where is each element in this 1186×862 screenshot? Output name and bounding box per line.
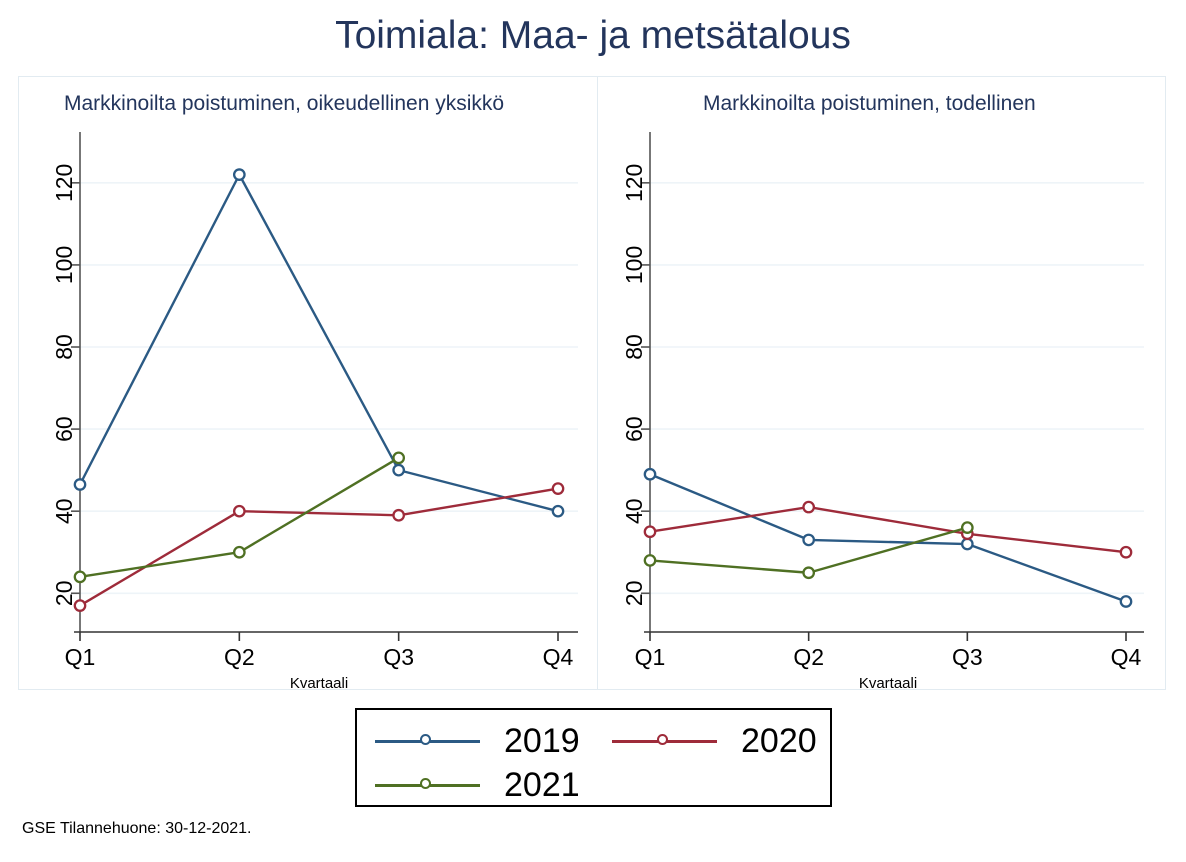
svg-text:20: 20 (51, 580, 77, 606)
circle-marker-icon (420, 734, 431, 745)
chart-canvas: Toimiala: Maa- ja metsätalous Markkinoil… (0, 0, 1186, 862)
svg-text:Q1: Q1 (65, 644, 96, 670)
svg-text:80: 80 (51, 334, 77, 360)
legend-label-2020: 2020 (741, 724, 817, 758)
svg-text:120: 120 (621, 164, 647, 202)
svg-text:80: 80 (621, 334, 647, 360)
svg-text:20: 20 (621, 580, 647, 606)
svg-text:120: 120 (51, 164, 77, 202)
svg-text:60: 60 (621, 416, 647, 442)
legend: 2019 2020 2021 (355, 708, 832, 807)
legend-item-2021: 2021 (375, 768, 580, 802)
svg-text:60: 60 (51, 416, 77, 442)
legend-key-2019 (375, 730, 480, 752)
circle-marker-icon (657, 734, 668, 745)
svg-text:100: 100 (51, 246, 77, 284)
svg-text:Q4: Q4 (1111, 644, 1142, 670)
legend-item-2019: 2019 (375, 724, 580, 758)
legend-item-2020: 2020 (612, 724, 817, 758)
line-chart-right: 20406080100120Q1Q2Q3Q4Kvartaali (598, 76, 1166, 690)
svg-text:Q3: Q3 (383, 644, 414, 670)
svg-text:Kvartaali: Kvartaali (859, 675, 917, 690)
line-chart-left: 20406080100120Q1Q2Q3Q4Kvartaali (18, 76, 597, 690)
svg-text:Q1: Q1 (635, 644, 666, 670)
svg-text:40: 40 (51, 498, 77, 524)
svg-text:100: 100 (621, 246, 647, 284)
svg-text:Q3: Q3 (952, 644, 983, 670)
page-title: Toimiala: Maa- ja metsätalous (0, 14, 1186, 58)
footer-note: GSE Tilannehuone: 30-12-2021. (22, 820, 252, 838)
svg-text:40: 40 (621, 498, 647, 524)
chart-panel-left: 20406080100120Q1Q2Q3Q4Kvartaali (18, 76, 597, 690)
circle-marker-icon (420, 778, 431, 789)
svg-text:Q2: Q2 (224, 644, 255, 670)
svg-text:Q2: Q2 (793, 644, 824, 670)
svg-text:Kvartaali: Kvartaali (290, 675, 348, 690)
legend-key-2020 (612, 730, 717, 752)
chart-panel-right: 20406080100120Q1Q2Q3Q4Kvartaali (598, 76, 1166, 690)
svg-text:Q4: Q4 (543, 644, 574, 670)
legend-label-2019: 2019 (504, 724, 580, 758)
legend-label-2021: 2021 (504, 768, 580, 802)
legend-key-2021 (375, 774, 480, 796)
